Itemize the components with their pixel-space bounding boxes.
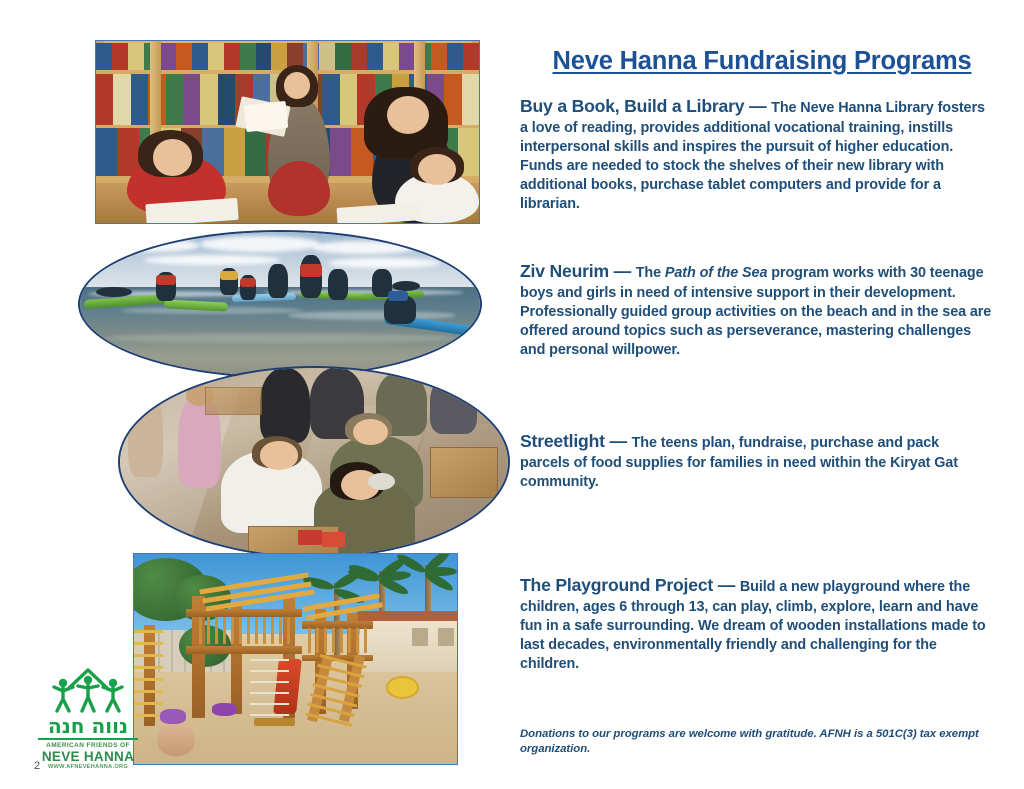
food-can-icon	[298, 530, 321, 545]
photo-ziv-neurim	[78, 230, 482, 378]
photo-playground	[133, 553, 458, 765]
photo-ziv-neurim-content	[80, 232, 480, 376]
program-heading: The Playground Project	[520, 575, 713, 595]
platform-beam-icon	[186, 609, 302, 617]
rope-ladder-icon	[250, 659, 289, 722]
program-dash: —	[713, 575, 740, 595]
program-streetlight: Streetlight — The teens plan, fundraise,…	[520, 432, 992, 492]
logo-hebrew-name: נווה חנה	[38, 716, 138, 736]
donation-footnote: Donations to our programs are welcome wi…	[520, 727, 982, 757]
program-buy-a-book-build-a-library: Buy a Book, Build a Library — The Neve H…	[520, 97, 992, 214]
program-heading: Ziv Neurim	[520, 261, 609, 281]
page-title: Neve Hanna Fundraising Programs	[522, 47, 1002, 76]
program-body: The Neve Hanna Library fosters a love of…	[520, 100, 985, 212]
photo-library	[95, 40, 480, 224]
logo-neve-hanna-line: NEVE HANNA	[38, 749, 138, 764]
three-figures-holding-hands-icon	[45, 666, 131, 714]
program-dash: —	[609, 261, 636, 281]
logo-website-url: WWW.AFNEVEHANNA.ORG	[38, 764, 138, 770]
logo-american-friends-line: AMERICAN FRIENDS OF	[38, 742, 138, 749]
photo-library-content	[96, 41, 479, 223]
program-heading: Buy a Book, Build a Library	[520, 96, 744, 116]
page-number: 2	[34, 760, 40, 772]
person-icon	[128, 387, 163, 477]
program-heading: Streetlight	[520, 431, 605, 451]
program-body-lead: The	[636, 265, 665, 281]
sand-toy-icon	[157, 722, 196, 756]
program-dash: —	[605, 431, 632, 451]
swing-seat-icon	[254, 718, 296, 726]
photo-streetlight-content	[120, 368, 508, 556]
image-column: נווה חנה AMERICAN FRIENDS OF NEVE HANNA …	[0, 0, 512, 789]
logo-neve-hanna: נווה חנה AMERICAN FRIENDS OF NEVE HANNA …	[38, 666, 138, 770]
program-ziv-neurim: Ziv Neurim — The Path of the Sea program…	[520, 262, 992, 360]
document-page: נווה חנה AMERICAN FRIENDS OF NEVE HANNA …	[0, 0, 1024, 789]
logo-divider	[38, 738, 138, 740]
photo-streetlight	[118, 366, 510, 558]
cardboard-box-icon	[430, 447, 498, 498]
program-body-emphasis: Path of the Sea	[665, 265, 767, 281]
program-the-playground-project: The Playground Project — Build a new pla…	[520, 576, 992, 674]
photo-playground-content	[134, 554, 457, 764]
text-column: Neve Hanna Fundraising Programs Buy a Bo…	[512, 0, 1024, 789]
program-dash: —	[744, 96, 771, 116]
